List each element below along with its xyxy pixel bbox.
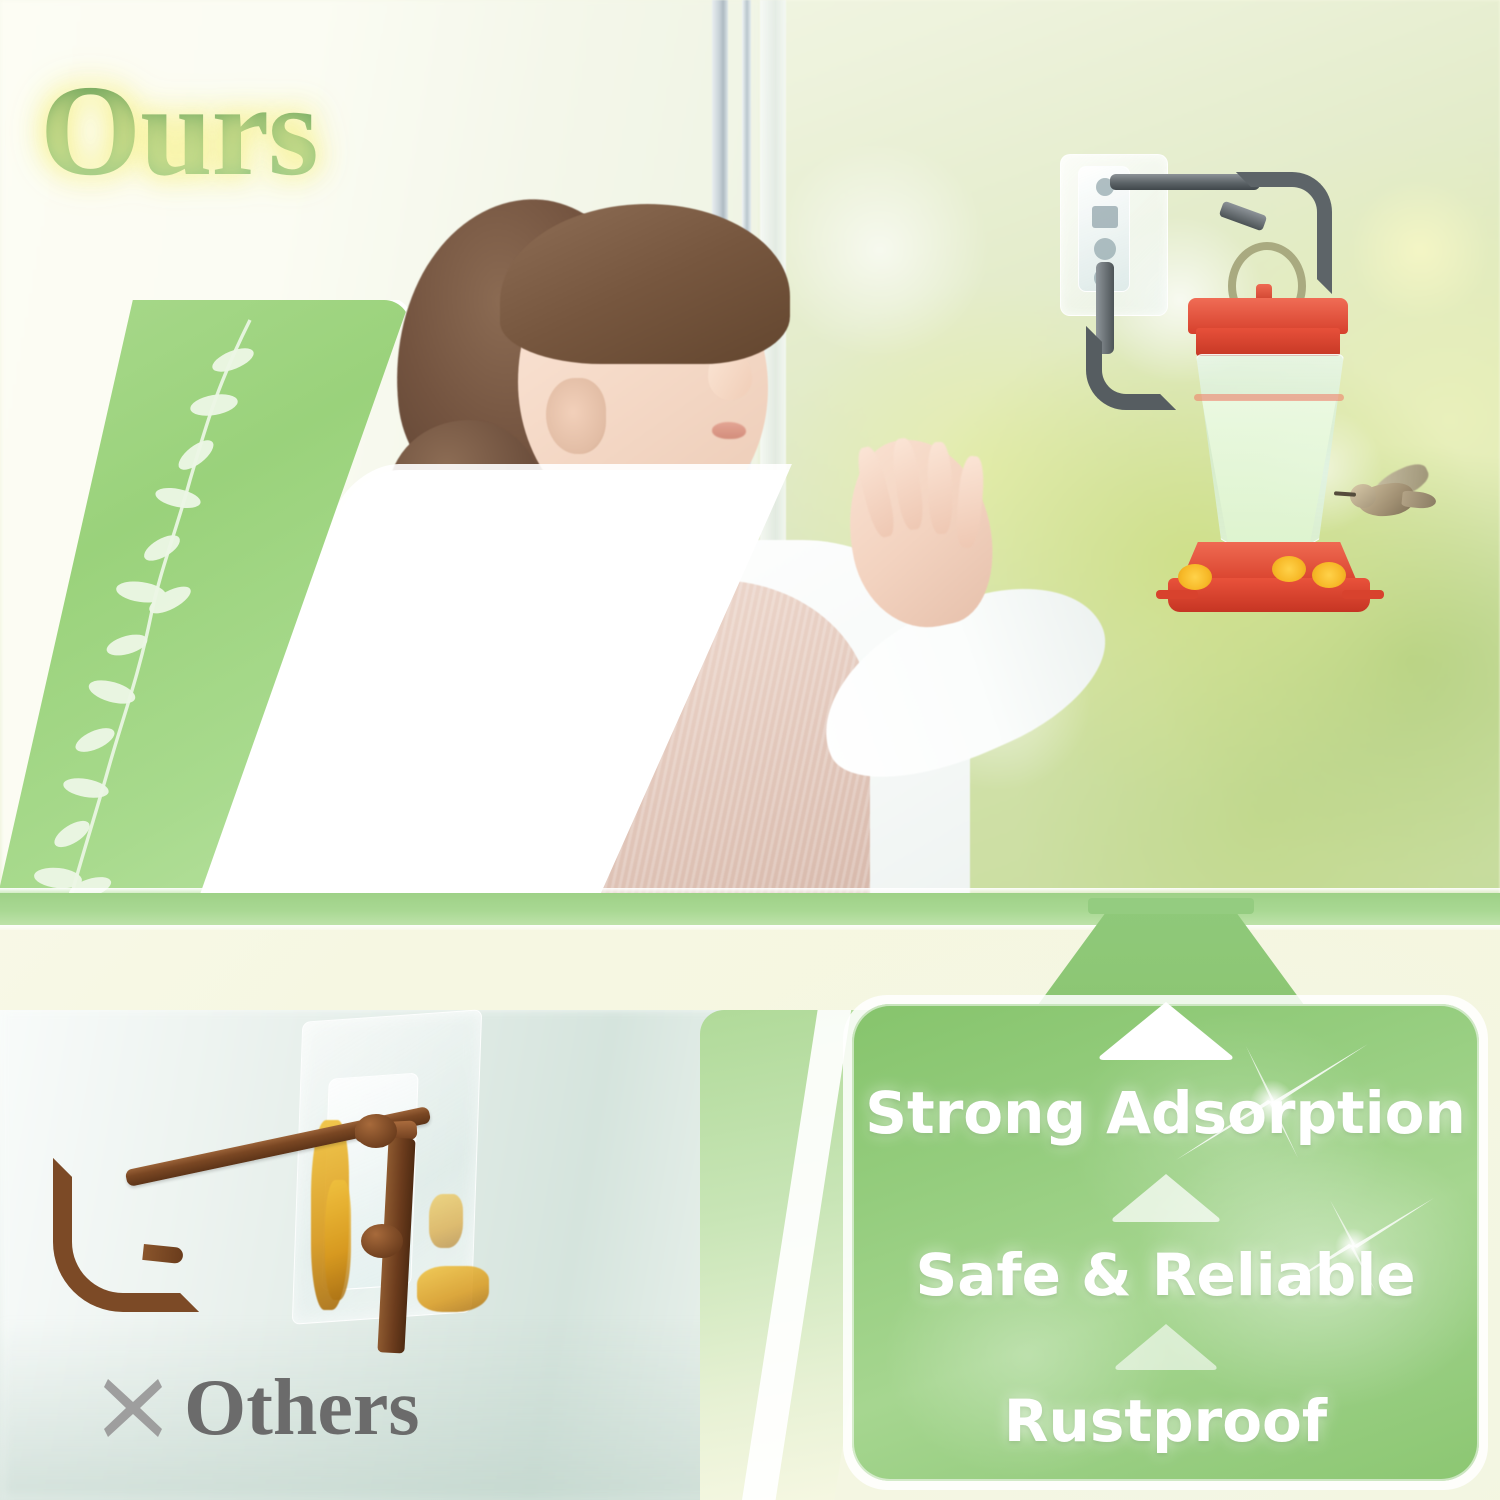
ours-hero-panel: Ours [0,0,1500,900]
others-label: Others [184,1368,420,1448]
others-label-group: Others [100,1368,420,1448]
feeder-seal-ring [1194,394,1344,401]
ear [546,378,606,454]
rusted-hook-curve [53,1158,199,1312]
flower-port [1272,556,1306,582]
rust-stain [429,1194,463,1248]
bird-tail [1401,490,1436,509]
green-divider-band [0,893,1500,925]
feature-label: Strong Adsorption [865,1079,1466,1147]
band-highlight-bottom [0,925,1500,930]
triangle-up-icon [1111,1172,1221,1224]
x-mark-icon [100,1375,166,1441]
triangle-up-icon [1114,1322,1218,1372]
feeder-cap-collar [1196,328,1340,356]
lips [712,422,746,439]
feeder-perch-right [1342,590,1384,599]
hummingbird [1346,468,1438,532]
flower-port [1312,562,1346,588]
feature-panel-connector-cap [1088,898,1254,914]
triangle-up-icon [1098,1000,1234,1062]
rust-stain [417,1266,489,1312]
feature-row-1: Strong Adsorption [852,1084,1479,1142]
ours-title: Ours [40,66,318,196]
feature-row-3: Rustproof [852,1392,1479,1450]
feature-label: Safe & Reliable [915,1241,1415,1309]
hummingbird-feeder-product [1050,150,1430,620]
rusted-screw [355,1114,397,1148]
hook-j-bend [1086,326,1176,410]
rusty-hook-photo [25,1010,565,1360]
feeder-perch-left [1156,590,1198,599]
infographic-root: Ours Others [0,0,1500,1500]
rust-stain [325,1180,351,1300]
bird-beak [1334,491,1356,497]
pad-detail-dot [1094,238,1116,260]
flower-port [1178,564,1212,590]
rusted-screw [361,1224,403,1258]
feature-label: Rustproof [1004,1387,1327,1455]
pad-detail-square [1092,206,1118,228]
feature-row-2: Safe & Reliable [852,1246,1479,1304]
